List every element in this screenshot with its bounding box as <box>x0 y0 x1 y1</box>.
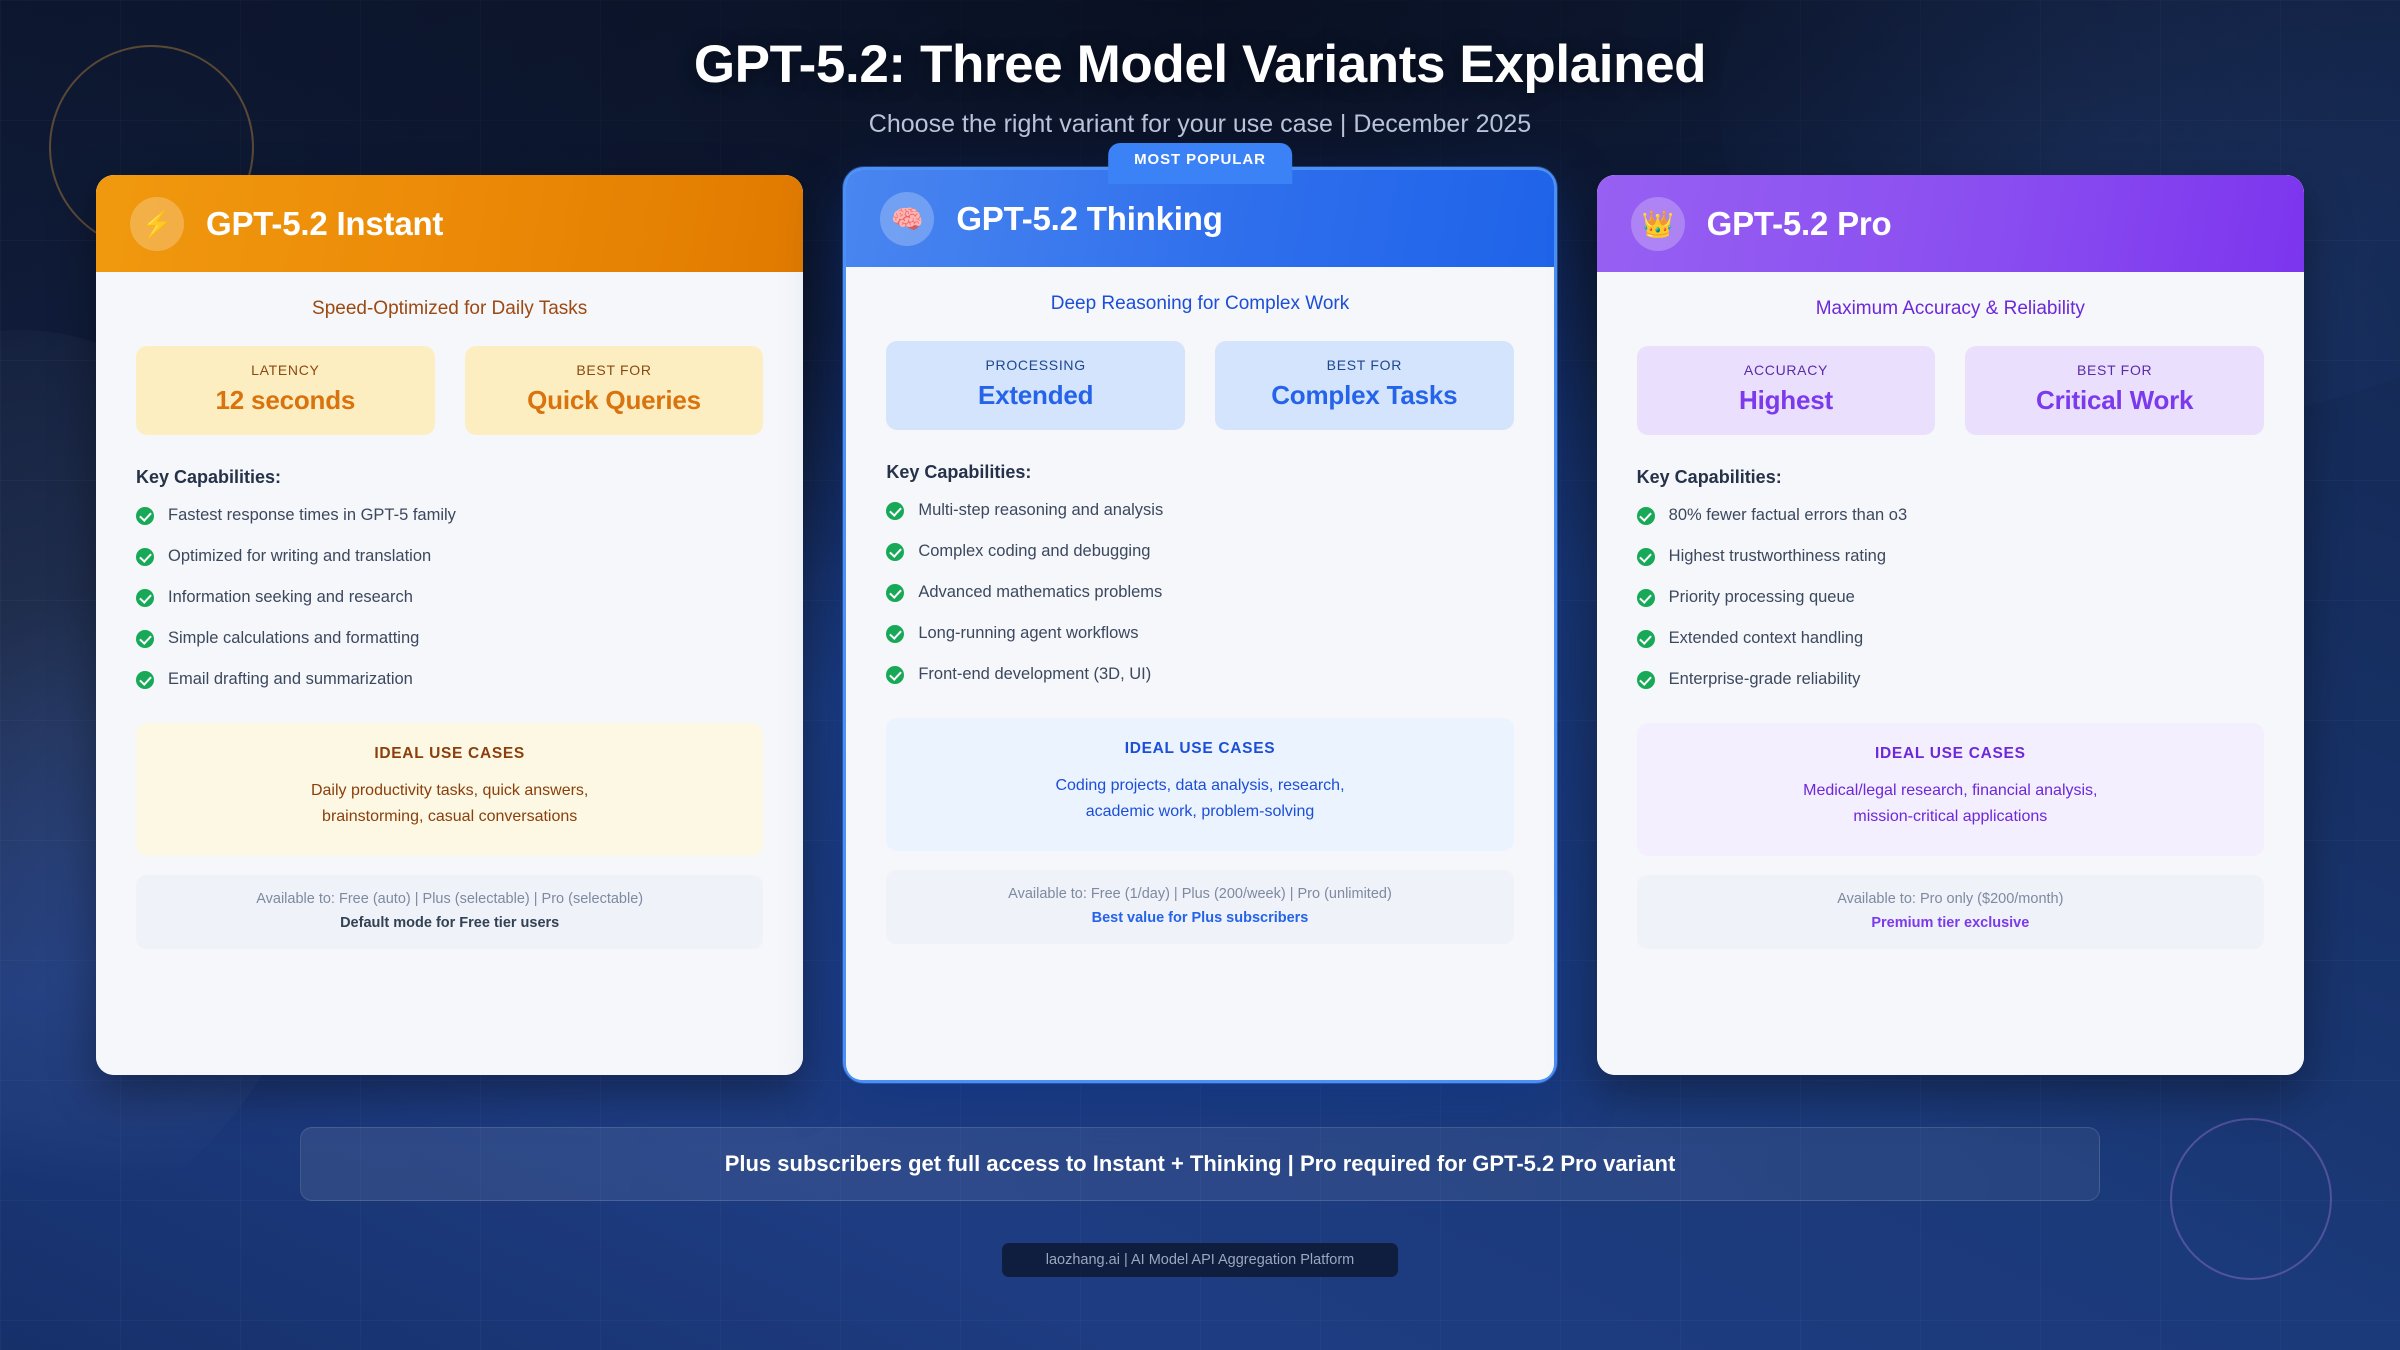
capability-text: Highest trustworthiness rating <box>1669 547 1886 566</box>
metric-label: ACCURACY <box>1647 362 1926 378</box>
metric-box: LATENCY12 seconds <box>136 346 435 435</box>
check-circle-icon <box>886 584 904 602</box>
capabilities-heading: Key Capabilities: <box>1637 467 2264 488</box>
card-inner-thinking: 🧠GPT-5.2 ThinkingDeep Reasoning for Comp… <box>846 170 1553 1080</box>
footer-banner: Plus subscribers get full access to Inst… <box>300 1127 2100 1201</box>
capabilities-heading: Key Capabilities: <box>886 462 1513 483</box>
card-title-pro: GPT-5.2 Pro <box>1707 205 1892 243</box>
variant-card-thinking[interactable]: MOST POPULAR🧠GPT-5.2 ThinkingDeep Reason… <box>843 167 1556 1083</box>
capability-item: Front-end development (3D, UI) <box>886 665 1513 684</box>
card-inner-pro: 👑GPT-5.2 ProMaximum Accuracy & Reliabili… <box>1597 175 2304 1075</box>
capability-text: Fastest response times in GPT-5 family <box>168 506 456 525</box>
capability-text: Information seeking and research <box>168 588 413 607</box>
usecase-line: Coding projects, data analysis, research… <box>910 773 1489 799</box>
metric-box: BEST FORQuick Queries <box>465 346 764 435</box>
metric-value: Quick Queries <box>475 385 754 416</box>
metric-box: PROCESSINGExtended <box>886 341 1185 430</box>
usecase-box-pro: IDEAL USE CASESMedical/legal research, f… <box>1637 723 2264 856</box>
check-circle-icon <box>136 630 154 648</box>
capability-item: Fastest response times in GPT-5 family <box>136 506 763 525</box>
capability-text: Simple calculations and formatting <box>168 629 419 648</box>
capability-item: Advanced mathematics problems <box>886 583 1513 602</box>
capability-text: 80% fewer factual errors than o3 <box>1669 506 1907 525</box>
check-circle-icon <box>136 507 154 525</box>
metric-box: BEST FORComplex Tasks <box>1215 341 1514 430</box>
check-circle-icon <box>1637 507 1655 525</box>
capability-text: Advanced mathematics problems <box>918 583 1162 602</box>
metrics-row-instant: LATENCY12 secondsBEST FORQuick Queries <box>96 324 803 435</box>
capabilities-thinking: Key Capabilities:Multi-step reasoning an… <box>846 430 1553 706</box>
capabilities-heading: Key Capabilities: <box>136 467 763 488</box>
availability-line: Available to: Free (auto) | Plus (select… <box>152 891 747 907</box>
metric-label: BEST FOR <box>1975 362 2254 378</box>
metric-value: Critical Work <box>1975 385 2254 416</box>
check-circle-icon <box>886 543 904 561</box>
crown-icon: 👑 <box>1631 197 1685 251</box>
availability-note: Default mode for Free tier users <box>152 915 747 931</box>
usecase-title: IDEAL USE CASES <box>1661 745 2240 763</box>
capability-item: Information seeking and research <box>136 588 763 607</box>
capability-text: Enterprise-grade reliability <box>1669 670 1861 689</box>
card-tagline-thinking: Deep Reasoning for Complex Work <box>846 267 1553 319</box>
capability-item: Simple calculations and formatting <box>136 629 763 648</box>
availability-line: Available to: Free (1/day) | Plus (200/w… <box>902 886 1497 902</box>
availability-box-pro: Available to: Pro only ($200/month)Premi… <box>1637 875 2264 949</box>
variant-card-instant[interactable]: ⚡GPT-5.2 InstantSpeed-Optimized for Dail… <box>96 175 803 1075</box>
capability-item: Priority processing queue <box>1637 588 2264 607</box>
decorative-ring-bottom-right <box>2170 1118 2332 1280</box>
page-subtitle: Choose the right variant for your use ca… <box>0 110 2400 139</box>
metric-label: LATENCY <box>146 362 425 378</box>
check-circle-icon <box>136 589 154 607</box>
lightning-bolt-icon: ⚡ <box>130 197 184 251</box>
usecase-title: IDEAL USE CASES <box>910 740 1489 758</box>
capabilities-instant: Key Capabilities:Fastest response times … <box>96 435 803 711</box>
capability-text: Extended context handling <box>1669 629 1863 648</box>
metric-value: 12 seconds <box>146 385 425 416</box>
check-circle-icon <box>136 548 154 566</box>
capability-text: Optimized for writing and translation <box>168 547 431 566</box>
usecase-box-thinking: IDEAL USE CASESCoding projects, data ana… <box>886 718 1513 851</box>
capability-item: Extended context handling <box>1637 629 2264 648</box>
availability-note: Premium tier exclusive <box>1653 915 2248 931</box>
capability-item: Email drafting and summarization <box>136 670 763 689</box>
card-title-instant: GPT-5.2 Instant <box>206 205 443 243</box>
metric-value: Highest <box>1647 385 1926 416</box>
metrics-row-pro: ACCURACYHighestBEST FORCritical Work <box>1597 324 2304 435</box>
card-inner-instant: ⚡GPT-5.2 InstantSpeed-Optimized for Dail… <box>96 175 803 1075</box>
metric-label: BEST FOR <box>1225 357 1504 373</box>
check-circle-icon <box>136 671 154 689</box>
capability-text: Multi-step reasoning and analysis <box>918 501 1163 520</box>
card-tagline-pro: Maximum Accuracy & Reliability <box>1597 272 2304 324</box>
brain-icon: 🧠 <box>880 192 934 246</box>
metric-box: BEST FORCritical Work <box>1965 346 2264 435</box>
capabilities-pro: Key Capabilities:80% fewer factual error… <box>1597 435 2304 711</box>
capability-item: 80% fewer factual errors than o3 <box>1637 506 2264 525</box>
usecase-line: academic work, problem-solving <box>910 799 1489 825</box>
capability-item: Optimized for writing and translation <box>136 547 763 566</box>
metric-box: ACCURACYHighest <box>1637 346 1936 435</box>
metric-value: Complex Tasks <box>1225 380 1504 411</box>
capability-text: Long-running agent workflows <box>918 624 1138 643</box>
metric-label: PROCESSING <box>896 357 1175 373</box>
usecase-box-instant: IDEAL USE CASESDaily productivity tasks,… <box>136 723 763 856</box>
usecase-line: mission-critical applications <box>1661 804 2240 830</box>
check-circle-icon <box>1637 589 1655 607</box>
check-circle-icon <box>1637 548 1655 566</box>
capability-item: Long-running agent workflows <box>886 624 1513 643</box>
footer-credit-badge: laozhang.ai | AI Model API Aggregation P… <box>1002 1243 1398 1277</box>
footer-credit-text: laozhang.ai | AI Model API Aggregation P… <box>1046 1252 1354 1268</box>
check-circle-icon <box>886 625 904 643</box>
capability-item: Highest trustworthiness rating <box>1637 547 2264 566</box>
metrics-row-thinking: PROCESSINGExtendedBEST FORComplex Tasks <box>846 319 1553 430</box>
check-circle-icon <box>1637 630 1655 648</box>
card-tagline-instant: Speed-Optimized for Daily Tasks <box>96 272 803 324</box>
capability-item: Enterprise-grade reliability <box>1637 670 2264 689</box>
card-title-thinking: GPT-5.2 Thinking <box>956 200 1222 238</box>
availability-box-instant: Available to: Free (auto) | Plus (select… <box>136 875 763 949</box>
usecase-line: Daily productivity tasks, quick answers, <box>160 778 739 804</box>
capability-text: Priority processing queue <box>1669 588 1855 607</box>
most-popular-badge: MOST POPULAR <box>1108 143 1292 184</box>
check-circle-icon <box>886 502 904 520</box>
card-header-pro: 👑GPT-5.2 Pro <box>1597 175 2304 272</box>
capability-item: Multi-step reasoning and analysis <box>886 501 1513 520</box>
metric-label: BEST FOR <box>475 362 754 378</box>
card-header-thinking: 🧠GPT-5.2 Thinking <box>846 170 1553 267</box>
card-header-instant: ⚡GPT-5.2 Instant <box>96 175 803 272</box>
capability-text: Front-end development (3D, UI) <box>918 665 1151 684</box>
usecase-line: brainstorming, casual conversations <box>160 804 739 830</box>
capability-text: Email drafting and summarization <box>168 670 413 689</box>
capability-item: Complex coding and debugging <box>886 542 1513 561</box>
footer-banner-text: Plus subscribers get full access to Inst… <box>725 1151 1676 1177</box>
usecase-line: Medical/legal research, financial analys… <box>1661 778 2240 804</box>
page-title: GPT-5.2: Three Model Variants Explained <box>0 34 2400 95</box>
usecase-title: IDEAL USE CASES <box>160 745 739 763</box>
availability-box-thinking: Available to: Free (1/day) | Plus (200/w… <box>886 870 1513 944</box>
variant-cards-row: ⚡GPT-5.2 InstantSpeed-Optimized for Dail… <box>96 175 2304 1083</box>
availability-note: Best value for Plus subscribers <box>902 910 1497 926</box>
check-circle-icon <box>1637 671 1655 689</box>
page-header: GPT-5.2: Three Model Variants Explained … <box>0 0 2400 139</box>
availability-line: Available to: Pro only ($200/month) <box>1653 891 2248 907</box>
capability-text: Complex coding and debugging <box>918 542 1150 561</box>
metric-value: Extended <box>896 380 1175 411</box>
check-circle-icon <box>886 666 904 684</box>
variant-card-pro[interactable]: 👑GPT-5.2 ProMaximum Accuracy & Reliabili… <box>1597 175 2304 1075</box>
